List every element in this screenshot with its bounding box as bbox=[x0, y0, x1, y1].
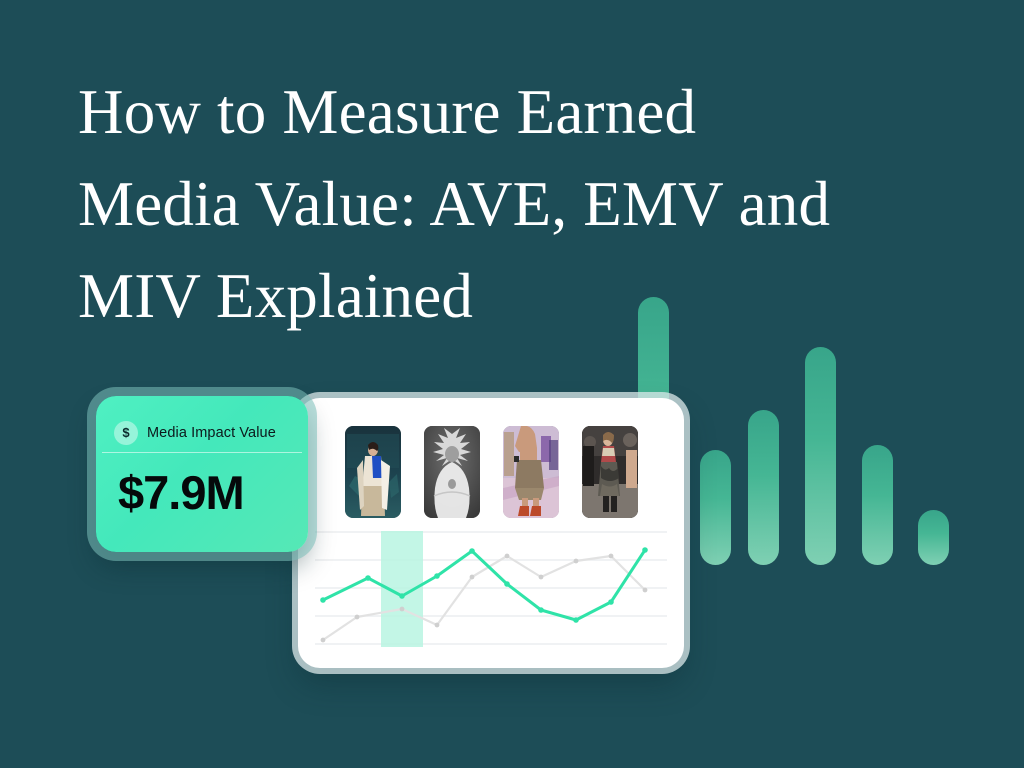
miv-card-header: $ Media Impact Value bbox=[96, 396, 308, 452]
runway-look-1-image bbox=[345, 426, 401, 518]
miv-card-value: $7.9M bbox=[96, 453, 308, 516]
media-impact-value-card[interactable]: $ Media Impact Value $7.9M bbox=[96, 396, 308, 552]
runway-look-4-image bbox=[582, 426, 638, 518]
decorative-bar-5 bbox=[862, 445, 893, 565]
thumbnail-runway-look-3[interactable] bbox=[503, 426, 559, 518]
decorative-bar-6 bbox=[918, 510, 949, 565]
chart-svg bbox=[315, 528, 667, 650]
trend-line-chart bbox=[315, 528, 667, 650]
runway-look-2-image bbox=[424, 426, 480, 518]
thumbnail-runway-look-4[interactable] bbox=[582, 426, 638, 518]
page-title: How to Measure Earned Media Value: AVE, … bbox=[78, 66, 938, 342]
decorative-bar-2 bbox=[700, 450, 731, 565]
thumbnail-runway-look-2[interactable] bbox=[424, 426, 480, 518]
thumbnail-strip bbox=[345, 426, 638, 518]
decorative-bar-3 bbox=[748, 410, 779, 565]
chart-series-benchmark-points bbox=[321, 554, 648, 643]
chart-gridlines bbox=[315, 532, 667, 644]
decorative-bar-4 bbox=[805, 347, 836, 565]
runway-look-3-image bbox=[503, 426, 559, 518]
chart-series-benchmark bbox=[323, 556, 645, 640]
thumbnail-runway-look-1[interactable] bbox=[345, 426, 401, 518]
dashboard-card bbox=[298, 398, 684, 668]
miv-card-label: Media Impact Value bbox=[147, 425, 276, 441]
dollar-icon: $ bbox=[114, 421, 138, 445]
